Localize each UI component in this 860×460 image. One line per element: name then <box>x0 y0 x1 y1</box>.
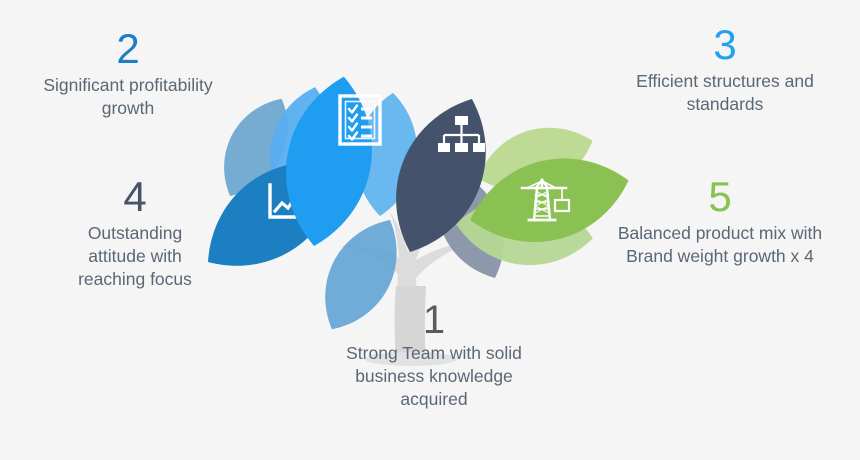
callout-5: 5 Balanced product mix with Brand weight… <box>586 176 854 268</box>
infographic-canvas: 2 Significant profitability growth 3 Eff… <box>0 0 860 460</box>
callout-4-text: Outstanding attitude with reaching focus <box>42 222 228 290</box>
callout-5-number: 5 <box>586 176 854 218</box>
callout-3-number: 3 <box>596 24 854 66</box>
callout-2: 2 Significant profitability growth <box>2 28 254 120</box>
callout-2-number: 2 <box>2 28 254 70</box>
callout-3-text: Efficient structures and standards <box>596 70 854 116</box>
callout-1: 1 Strong Team with solid business knowle… <box>300 300 568 410</box>
callout-5-text: Balanced product mix with Brand weight g… <box>586 222 854 268</box>
callout-1-text: Strong Team with solid business knowledg… <box>300 342 568 410</box>
callout-2-text: Significant profitability growth <box>2 74 254 120</box>
callout-1-number: 1 <box>300 300 568 340</box>
callout-3: 3 Efficient structures and standards <box>596 24 854 116</box>
callout-4: 4 Outstanding attitude with reaching foc… <box>42 176 228 290</box>
callout-4-number: 4 <box>42 176 228 218</box>
